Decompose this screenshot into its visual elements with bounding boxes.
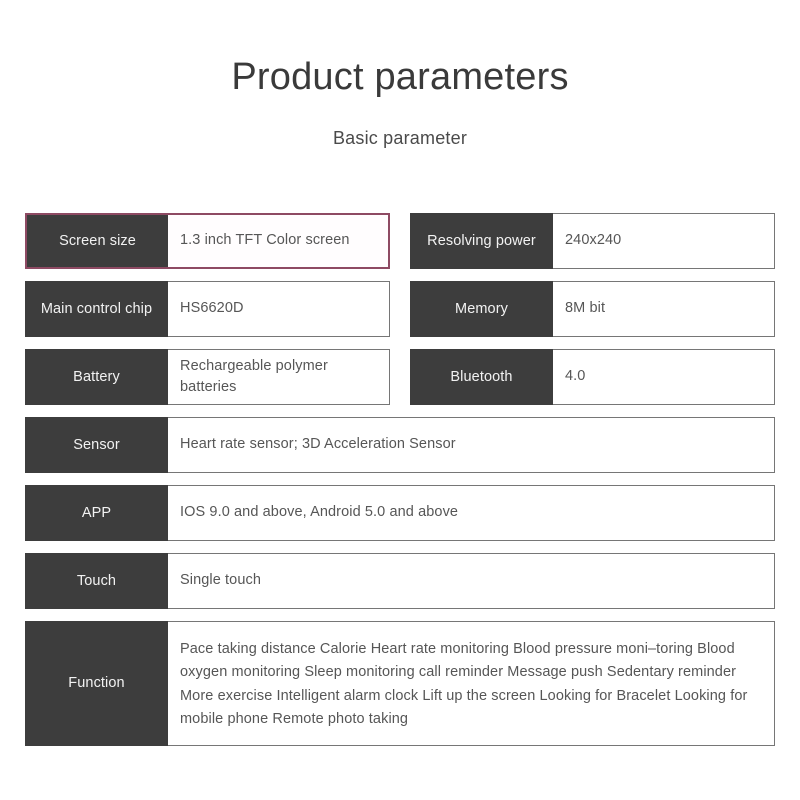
spec-value-main-control-chip[interactable]: HS6620D (168, 281, 390, 337)
spec-item-touch[interactable]: Touch Single touch (25, 553, 775, 609)
spec-item-function[interactable]: Function Pace taking distance Calorie He… (25, 621, 775, 746)
spec-value-resolving-power[interactable]: 240x240 (553, 213, 775, 269)
spec-label-app: APP (25, 485, 168, 541)
page-title: Product parameters (0, 58, 800, 96)
spec-value-memory[interactable]: 8M bit (553, 281, 775, 337)
spec-item-battery[interactable]: Battery Rechargeable polymer batteries (25, 349, 390, 405)
spec-item-sensor[interactable]: Sensor Heart rate sensor; 3D Acceleratio… (25, 417, 775, 473)
page-subtitle: Basic parameter (0, 96, 800, 149)
spec-value-battery[interactable]: Rechargeable polymer batteries (168, 349, 390, 405)
spec-value-function[interactable]: Pace taking distance Calorie Heart rate … (168, 621, 775, 746)
spec-label-screen-size: Screen size (25, 213, 168, 269)
spec-item-bluetooth[interactable]: Bluetooth 4.0 (410, 349, 775, 405)
spec-item-resolving-power[interactable]: Resolving power 240x240 (410, 213, 775, 269)
spec-value-bluetooth[interactable]: 4.0 (553, 349, 775, 405)
spec-value-sensor[interactable]: Heart rate sensor; 3D Acceleration Senso… (168, 417, 775, 473)
spec-label-memory: Memory (410, 281, 553, 337)
spec-value-app[interactable]: IOS 9.0 and above, Android 5.0 and above (168, 485, 775, 541)
spec-item-screen-size[interactable]: Screen size 1.3 inch TFT Color screen (25, 213, 390, 269)
spec-item-main-control-chip[interactable]: Main control chip HS6620D (25, 281, 390, 337)
spec-value-screen-size[interactable]: 1.3 inch TFT Color screen (168, 213, 390, 269)
page-header: Product parameters Basic parameter (0, 0, 800, 149)
spec-value-touch[interactable]: Single touch (168, 553, 775, 609)
spec-row: Screen size 1.3 inch TFT Color screen Re… (25, 213, 775, 269)
spec-label-battery: Battery (25, 349, 168, 405)
spec-label-bluetooth: Bluetooth (410, 349, 553, 405)
spec-row: Battery Rechargeable polymer batteries B… (25, 349, 775, 405)
spec-row: Main control chip HS6620D Memory 8M bit (25, 281, 775, 337)
spec-table: Screen size 1.3 inch TFT Color screen Re… (25, 213, 775, 758)
spec-item-memory[interactable]: Memory 8M bit (410, 281, 775, 337)
spec-label-sensor: Sensor (25, 417, 168, 473)
spec-label-resolving-power: Resolving power (410, 213, 553, 269)
spec-item-app[interactable]: APP IOS 9.0 and above, Android 5.0 and a… (25, 485, 775, 541)
spec-label-touch: Touch (25, 553, 168, 609)
spec-label-main-control-chip: Main control chip (25, 281, 168, 337)
spec-label-function: Function (25, 621, 168, 746)
